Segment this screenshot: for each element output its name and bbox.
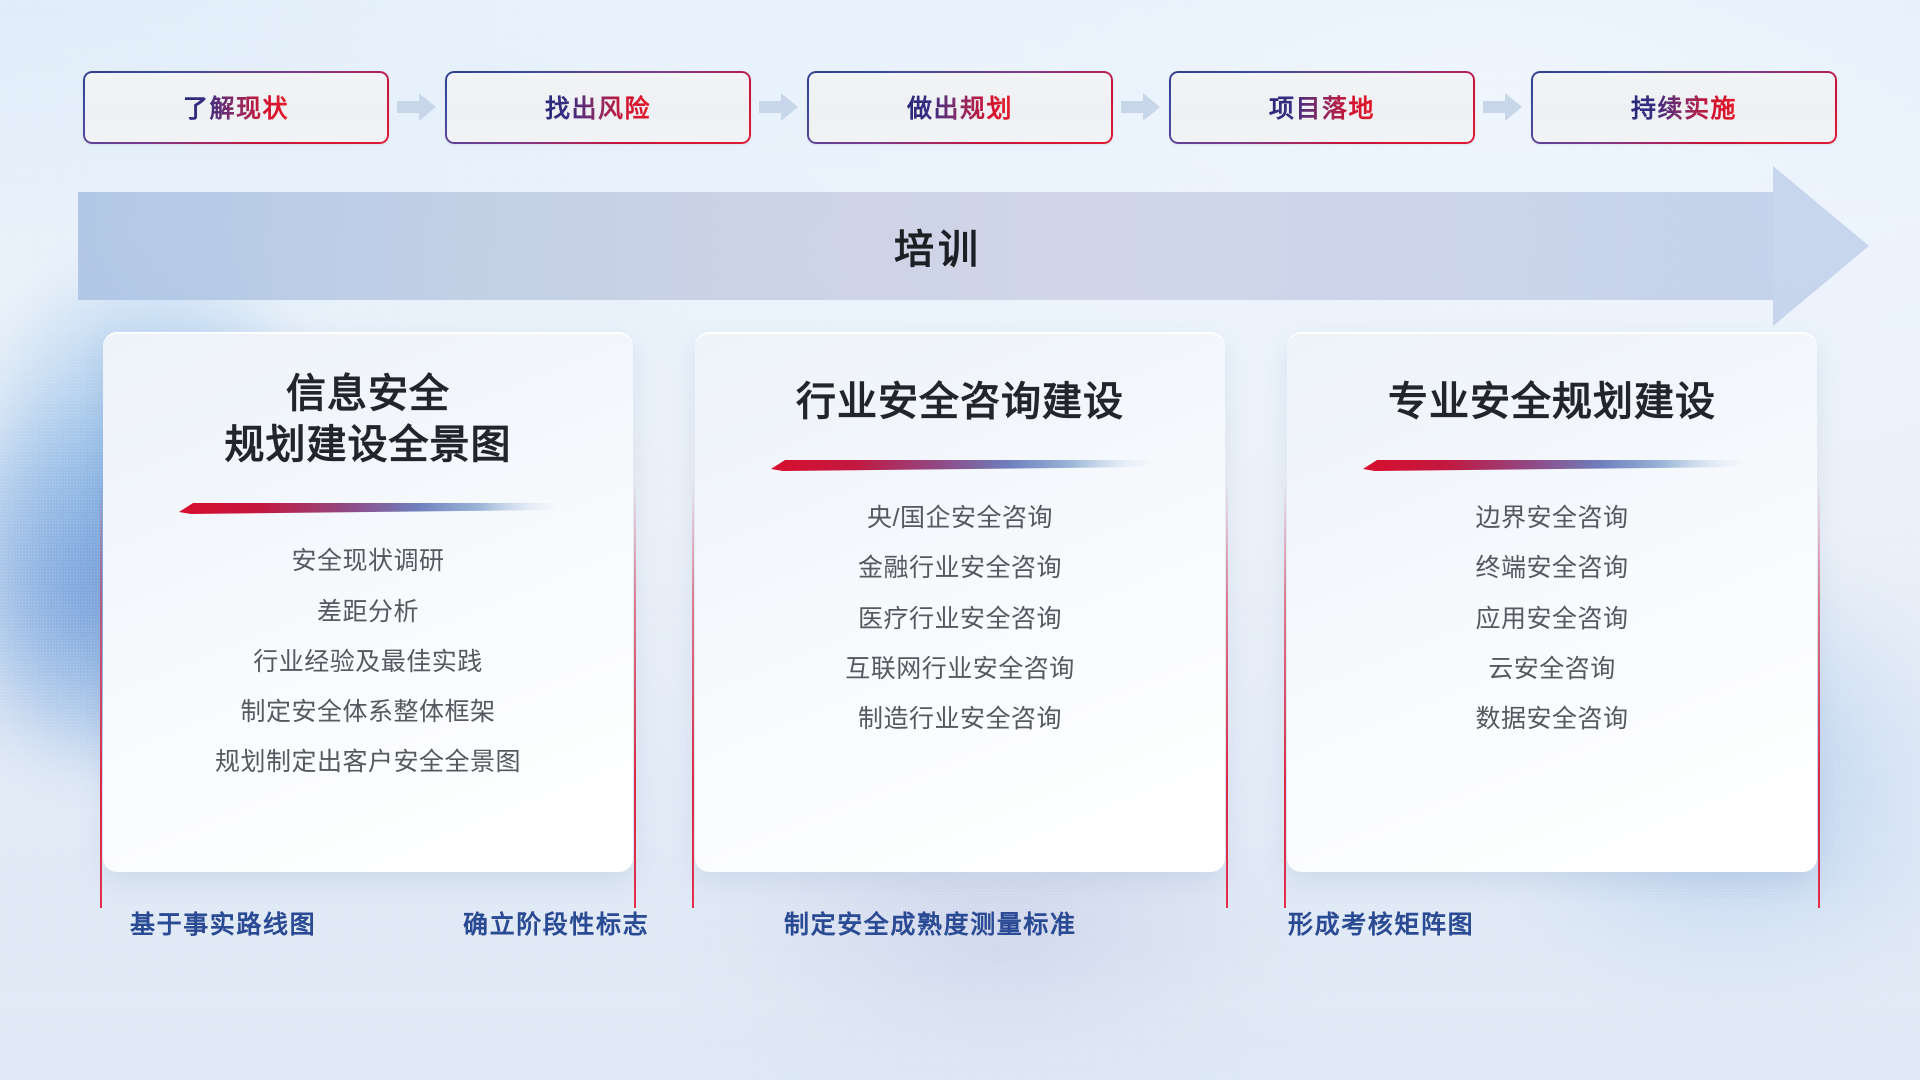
training-band-title: 培训 (78, 192, 1868, 300)
service-card-title-line: 行业安全咨询建设 (796, 377, 1124, 428)
step-chip-label: 了解现状 (183, 89, 289, 125)
process-step-row: 了解现状 找出风险 做出规划 项目落地 持续实施 (0, 68, 1920, 146)
service-card-1[interactable]: 信息安全 规划建设全景图 (103, 332, 633, 872)
service-card-3-wrapper: 专业安全规划建设 (1287, 332, 1817, 884)
service-card-1-wrapper: 信息安全 规划建设全景图 (103, 332, 633, 884)
service-card-title-line: 规划建设全景图 (225, 420, 512, 471)
service-card-title: 信息安全 规划建设全景图 (225, 369, 512, 471)
list-item: 云安全咨询 (1488, 651, 1616, 687)
training-band: 培训 (78, 192, 1868, 300)
step-connector-arrow-3 (1113, 71, 1169, 144)
list-item: 数据安全咨询 (1475, 701, 1628, 737)
list-item: 行业经验及最佳实践 (253, 644, 483, 680)
card-divider-gradient (1363, 458, 1741, 472)
step-chip-3[interactable]: 做出规划 (807, 71, 1113, 144)
card-accent-line-right (634, 482, 636, 908)
footer-label-3: 制定安全成熟度测量标准 (784, 905, 1077, 941)
service-card-title: 行业安全咨询建设 (796, 377, 1124, 428)
step-chip-label: 项目落地 (1269, 89, 1375, 125)
list-item: 终端安全咨询 (1475, 550, 1628, 586)
list-item: 边界安全咨询 (1475, 500, 1628, 536)
service-card-3[interactable]: 专业安全规划建设 (1287, 332, 1817, 872)
service-card-2-wrapper: 行业安全咨询建设 (695, 332, 1225, 884)
list-item: 差距分析 (317, 594, 419, 630)
step-chip-label: 做出规划 (907, 89, 1013, 125)
list-item: 制定安全体系整体框架 (240, 694, 495, 730)
card-accent-line-left (100, 482, 102, 908)
footer-label-2: 确立阶段性标志 (463, 905, 649, 941)
step-connector-arrow-1 (389, 71, 445, 144)
list-item: 金融行业安全咨询 (858, 550, 1062, 586)
card-divider-gradient (771, 458, 1149, 472)
step-connector-arrow-2 (751, 71, 807, 144)
step-chip-2[interactable]: 找出风险 (445, 71, 751, 144)
service-card-2[interactable]: 行业安全咨询建设 (695, 332, 1225, 872)
list-item: 央/国企安全咨询 (867, 500, 1053, 536)
service-card-item-list: 边界安全咨询 终端安全咨询 应用安全咨询 云安全咨询 数据安全咨询 (1287, 500, 1817, 737)
card-accent-line-left (692, 482, 694, 908)
list-item: 规划制定出客户安全全景图 (215, 744, 521, 780)
step-chip-label: 持续实施 (1631, 89, 1737, 125)
service-card-title: 专业安全规划建设 (1388, 377, 1716, 428)
footer-label-1: 基于事实路线图 (130, 905, 316, 941)
card-divider-gradient (179, 501, 557, 515)
card-accent-line-left (1284, 482, 1286, 908)
list-item: 医疗行业安全咨询 (858, 601, 1062, 637)
footer-label-row: 基于事实路线图 确立阶段性标志 制定安全成熟度测量标准 形成考核矩阵图 (0, 905, 1920, 965)
service-card-item-list: 安全现状调研 差距分析 行业经验及最佳实践 制定安全体系整体框架 规划制定出客户… (103, 543, 633, 780)
step-connector-arrow-4 (1475, 71, 1531, 144)
step-chip-1[interactable]: 了解现状 (83, 71, 389, 144)
service-card-title-line: 专业安全规划建设 (1388, 377, 1716, 428)
service-card-item-list: 央/国企安全咨询 金融行业安全咨询 医疗行业安全咨询 互联网行业安全咨询 制造行… (695, 500, 1225, 737)
list-item: 制造行业安全咨询 (858, 701, 1062, 737)
list-item: 应用安全咨询 (1475, 601, 1628, 637)
step-chip-4[interactable]: 项目落地 (1169, 71, 1475, 144)
service-card-row: 信息安全 规划建设全景图 (0, 332, 1920, 892)
service-card-title-line: 信息安全 (225, 369, 512, 420)
step-chip-5[interactable]: 持续实施 (1531, 71, 1837, 144)
card-accent-line-right (1226, 482, 1228, 908)
list-item: 互联网行业安全咨询 (845, 651, 1075, 687)
card-accent-line-right (1818, 482, 1820, 908)
step-chip-label: 找出风险 (545, 89, 651, 125)
list-item: 安全现状调研 (291, 543, 444, 579)
footer-label-4: 形成考核矩阵图 (1288, 905, 1474, 941)
